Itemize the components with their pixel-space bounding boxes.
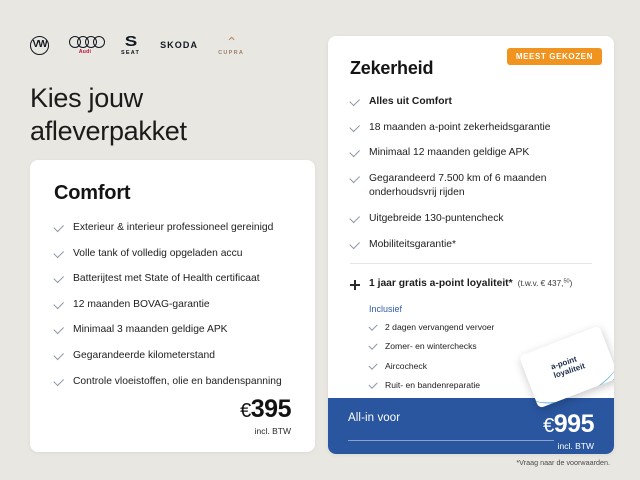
check-icon [350, 97, 360, 107]
package-card-comfort[interactable]: Comfort Exterieur & interieur profession… [30, 160, 315, 452]
zekerheid-price-note: incl. BTW [543, 441, 594, 451]
cupra-icon: ⌃ [226, 35, 237, 49]
list-item: Volle tank of volledig opgeladen accu [54, 247, 291, 262]
zekerheid-feature-list: Alles uit Comfort 18 maanden a-point zek… [350, 95, 592, 252]
footer-rule [348, 440, 554, 441]
zekerheid-price-block: €995 incl. BTW [543, 412, 594, 451]
loyalty-value-prefix: (t.w.v. € 437, [518, 279, 564, 288]
check-icon [350, 174, 360, 184]
status-badge: MEEST GEKOZEN [507, 48, 602, 65]
audi-logo: Audi [69, 36, 101, 55]
check-icon [54, 274, 64, 284]
check-icon [54, 300, 64, 310]
all-in-label: All-in voor [348, 412, 400, 424]
zekerheid-body: Zekerheid Alles uit Comfort 18 maanden a… [328, 36, 614, 391]
loyalty-title: 1 jaar gratis a-point loyaliteit* [369, 278, 513, 289]
comfort-price-block: €395 incl. BTW [240, 397, 291, 436]
section-divider [350, 263, 592, 264]
check-icon [369, 381, 377, 389]
check-icon [54, 223, 64, 233]
check-icon [350, 240, 360, 250]
list-item: 12 maanden BOVAG-garantie [54, 298, 291, 313]
currency-symbol: € [240, 400, 251, 422]
inclusief-title: Inclusief [369, 304, 592, 314]
comfort-price-note: incl. BTW [240, 426, 291, 436]
seat-wordmark: SEAT [121, 50, 140, 56]
list-item: Exterieur & interieur professioneel gere… [54, 221, 291, 236]
loyalty-bonus-row: 1 jaar gratis a-point loyaliteit*(t.w.v.… [350, 278, 592, 290]
check-icon [369, 362, 377, 370]
list-item: Mobiliteitsgarantie* [350, 238, 592, 253]
check-icon [54, 249, 64, 259]
list-item: Batterijtest met State of Health certifi… [54, 272, 291, 287]
check-icon [54, 377, 64, 387]
check-icon [350, 148, 360, 158]
list-item: Gegarandeerd 7.500 km of 6 maanden onder… [350, 172, 592, 201]
cupra-logo: ⌃ CUPRA [218, 35, 244, 56]
comfort-feature-list: Exterieur & interieur professioneel gere… [54, 221, 291, 389]
cupra-wordmark: CUPRA [218, 50, 244, 56]
feature-text: Batterijtest met State of Health certifi… [73, 272, 260, 287]
feature-text: Mobiliteitsgarantie* [369, 238, 456, 253]
zekerheid-price-footer: All-in voor €995 incl. BTW [328, 398, 614, 454]
delivery-package-page: VW Audi S SEAT SKODA ⌃ CUPRA Kies jouwaf… [0, 0, 640, 480]
comfort-price: €395 [240, 397, 291, 422]
check-icon [350, 123, 360, 133]
footnote: *Vraag naar de voorwaarden. [516, 458, 610, 467]
list-item: 18 maanden a-point zekerheidsgarantie [350, 121, 592, 136]
list-item: Alles uit Comfort [350, 95, 592, 110]
volkswagen-logo: VW [30, 36, 49, 55]
feature-text: 18 maanden a-point zekerheidsgarantie [369, 121, 550, 136]
inclusief-text: 2 dagen vervangend vervoer [385, 322, 494, 333]
page-title: Kies jouwafleverpakket [30, 82, 187, 148]
seat-icon: S [124, 34, 137, 49]
check-icon [54, 351, 64, 361]
feature-text: Alles uit Comfort [369, 95, 452, 110]
check-icon [369, 323, 377, 331]
audi-rings-icon [69, 36, 101, 48]
feature-text: Volle tank of volledig opgeladen accu [73, 247, 242, 262]
feature-text: 12 maanden BOVAG-garantie [73, 298, 210, 313]
feature-text: Uitgebreide 130-puntencheck [369, 212, 504, 227]
check-icon [350, 214, 360, 224]
volkswagen-icon: VW [30, 36, 49, 55]
loyalty-bonus-text: 1 jaar gratis a-point loyaliteit*(t.w.v.… [369, 278, 572, 289]
feature-text: Gegarandeerd 7.500 km of 6 maanden onder… [369, 172, 592, 201]
price-amount: 995 [554, 410, 594, 438]
list-item: Uitgebreide 130-puntencheck [350, 212, 592, 227]
plus-icon [350, 280, 360, 290]
loyalty-value-suffix: ) [570, 279, 573, 288]
seat-logo: S SEAT [121, 34, 140, 56]
inclusief-text: Ruit- en bandenreparatie [385, 380, 480, 391]
feature-text: Minimaal 12 maanden geldige APK [369, 146, 529, 161]
list-item: Minimaal 12 maanden geldige APK [350, 146, 592, 161]
feature-text: Minimaal 3 maanden geldige APK [73, 323, 228, 338]
inclusief-text: Aircocheck [385, 361, 427, 372]
zekerheid-price: €995 [543, 412, 594, 437]
check-icon [54, 325, 64, 335]
feature-text: Controle vloeistoffen, olie en bandenspa… [73, 375, 282, 390]
feature-text: Exterieur & interieur professioneel gere… [73, 221, 273, 236]
check-icon [369, 342, 377, 350]
skoda-wordmark: SKODA [160, 40, 198, 50]
brand-logo-bar: VW Audi S SEAT SKODA ⌃ CUPRA [30, 32, 244, 58]
price-amount: 395 [251, 395, 291, 423]
list-item: Minimaal 3 maanden geldige APK [54, 323, 291, 338]
package-card-zekerheid[interactable]: MEEST GEKOZEN Zekerheid Alles uit Comfor… [328, 36, 614, 454]
comfort-title: Comfort [54, 182, 291, 205]
loyalty-value: (t.w.v. € 437,50) [518, 279, 573, 288]
feature-text: Gegarandeerde kilometerstand [73, 349, 215, 364]
audi-wordmark: Audi [79, 49, 91, 55]
list-item: 2 dagen vervangend vervoer [369, 322, 592, 333]
skoda-logo: SKODA [160, 40, 198, 50]
list-item: Controle vloeistoffen, olie en bandenspa… [54, 375, 291, 390]
inclusief-text: Zomer- en winterchecks [385, 341, 477, 352]
list-item: Gegarandeerde kilometerstand [54, 349, 291, 364]
currency-symbol: € [543, 415, 554, 437]
